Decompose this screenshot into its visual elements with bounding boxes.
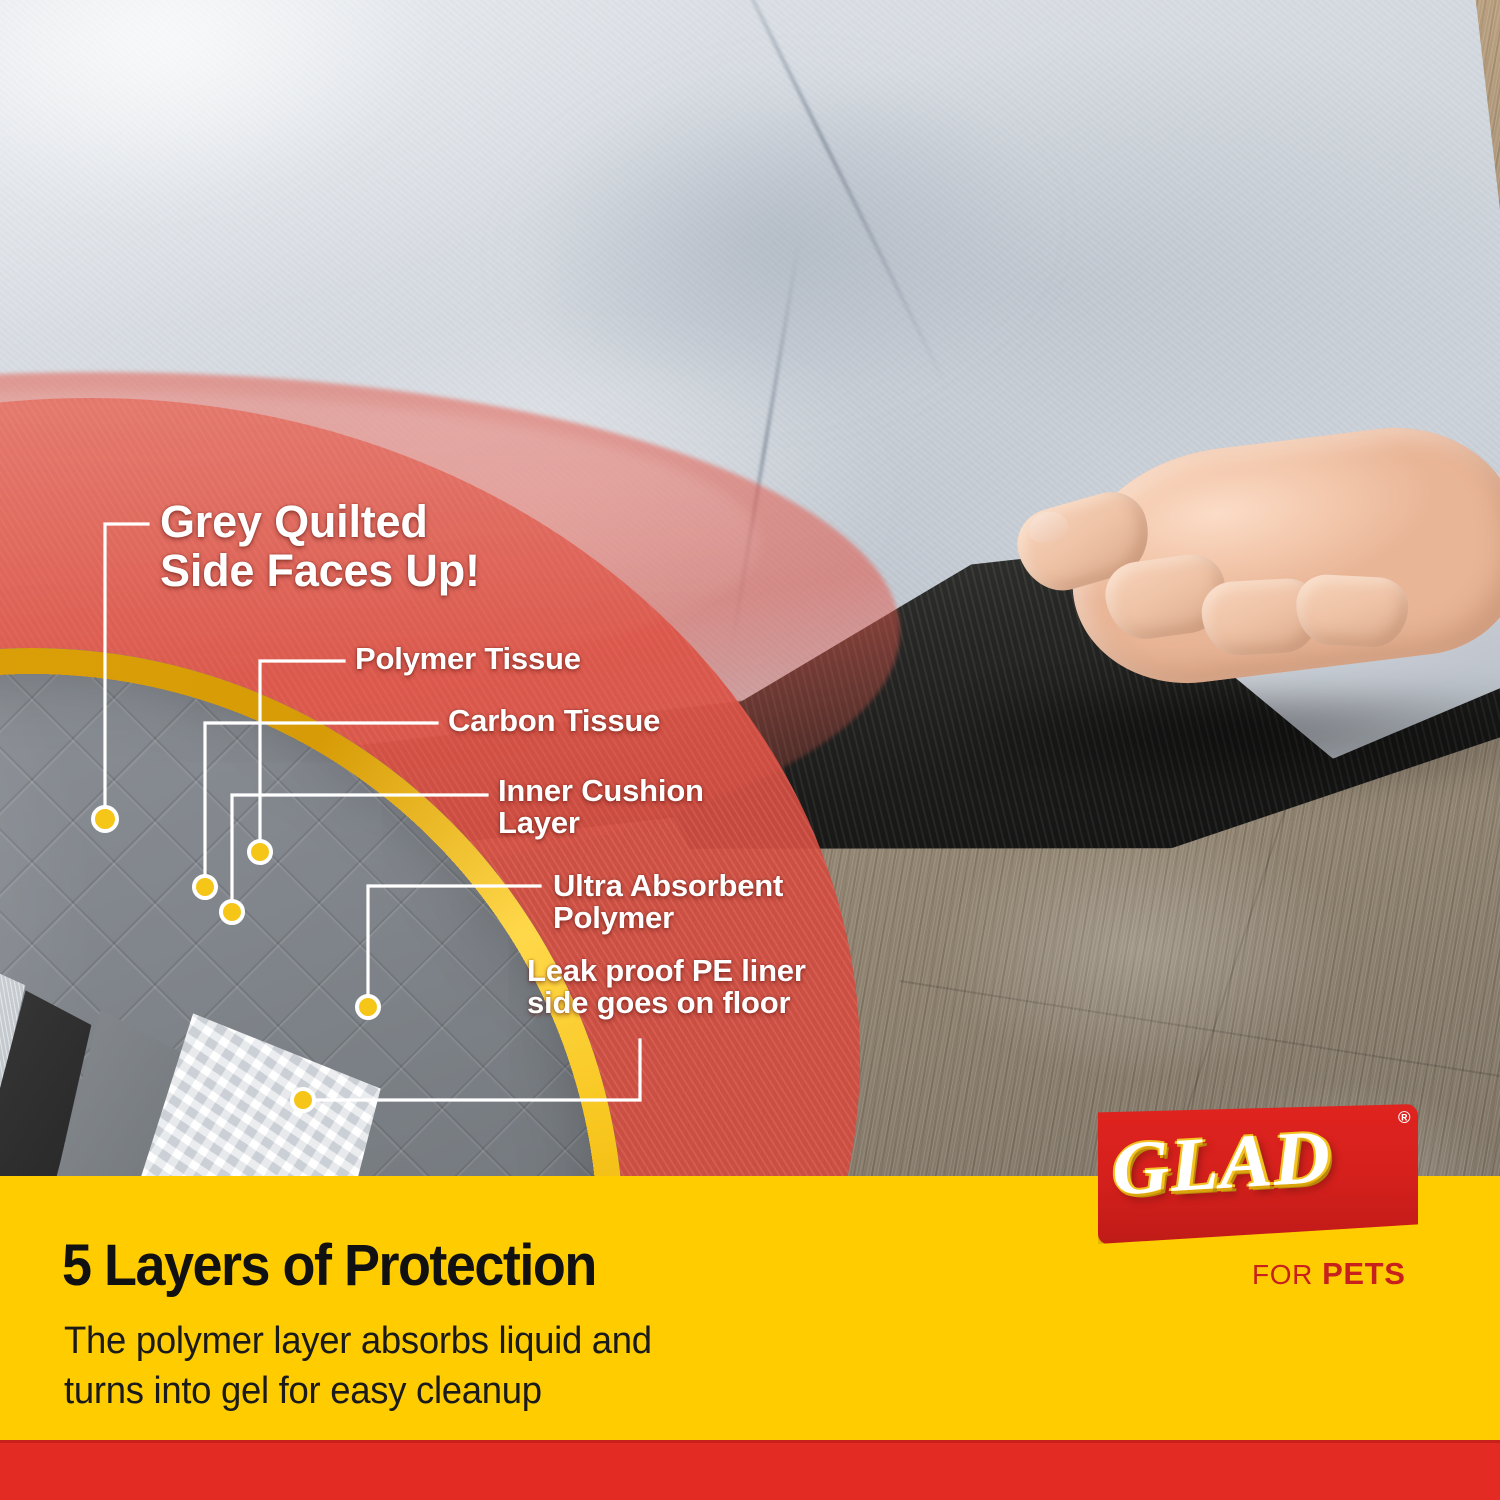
product-infographic: Grey Quilted Side Faces Up! Polymer Tiss… — [0, 0, 1500, 1500]
callout-label-leak-proof-pe: Leak proof PE liner side goes on floor — [527, 955, 806, 1019]
logo-for-word: FOR — [1252, 1259, 1313, 1290]
bottom-red-strip — [0, 1440, 1500, 1500]
callout-headline: Grey Quilted Side Faces Up! — [160, 498, 480, 595]
logo-wordmark: GLAD — [1109, 1114, 1333, 1214]
callout-label-ultra-absorbent: Ultra Absorbent Polymer — [553, 870, 783, 934]
banner-subtitle: The polymer layer absorbs liquid and tur… — [64, 1316, 851, 1416]
callout-label-polymer-tissue: Polymer Tissue — [355, 643, 581, 675]
banner-title: 5 Layers of Protection — [62, 1232, 596, 1299]
logo-pets-word: PETS — [1322, 1256, 1405, 1291]
registered-trademark-icon: ® — [1398, 1108, 1411, 1128]
callout-label-carbon-tissue: Carbon Tissue — [448, 705, 660, 737]
callout-label-inner-cushion: Inner Cushion Layer — [498, 775, 704, 839]
finger-pinky — [1294, 573, 1410, 649]
hand-lifting-pad — [1010, 430, 1500, 760]
glad-logo: GLAD ® FOR PETS — [1098, 1104, 1438, 1304]
logo-for-pets: FOR PETS — [1252, 1256, 1406, 1292]
